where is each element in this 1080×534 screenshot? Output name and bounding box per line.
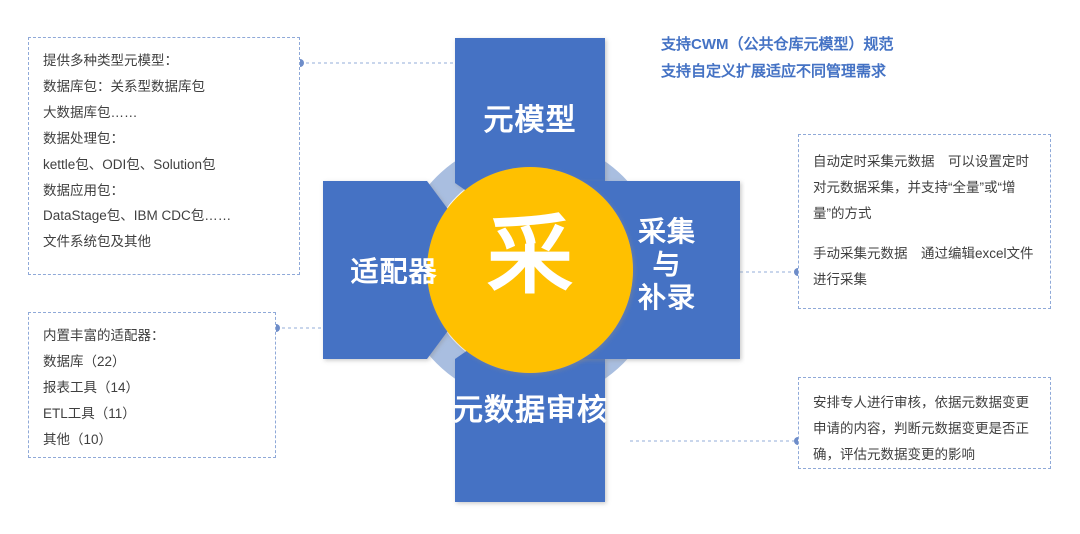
note-spacer [813,227,1036,241]
core-circle [427,167,633,373]
note-line: ETL工具（11） [43,401,261,427]
headline-line-2: 支持自定义扩展适应不同管理需求 [661,59,1061,86]
note-line: 内置丰富的适配器： [43,323,261,349]
note-audit: 安排专人进行审核，依据元数据变更申请的内容，判断元数据变更是否正确，评估元数据变… [798,377,1051,469]
note-line: 自动定时采集元数据 可以设置定时对元数据采集，并支持“全量”或“增量”的方式 [813,149,1036,227]
note-line: kettle包、ODI包、Solution包 [43,152,285,178]
note-line: 手动采集元数据 通过编辑excel文件进行采集 [813,241,1036,293]
note-line: 提供多种类型元模型： [43,48,285,74]
note-line: 数据库包：关系型数据库包 [43,74,285,100]
note-collect: 自动定时采集元数据 可以设置定时对元数据采集，并支持“全量”或“增量”的方式 手… [798,134,1051,309]
slide-canvas: 采 元模型 适配器 采集 与 补录 元数据审核 支持CWM（公共仓库元模型）规范… [0,0,1080,534]
note-line: 报表工具（14） [43,375,261,401]
note-line: 数据库（22） [43,349,261,375]
note-line: 其他（10） [43,427,261,453]
note-line: 安排专人进行审核，依据元数据变更申请的内容，判断元数据变更是否正确，评估元数据变… [813,390,1036,468]
petal-diagram: 采 元模型 适配器 采集 与 补录 元数据审核 [315,25,745,515]
note-line: 文件系统包及其他 [43,229,285,255]
headline-block: 支持CWM（公共仓库元模型）规范 支持自定义扩展适应不同管理需求 [661,32,1061,85]
note-line: 数据处理包： [43,126,285,152]
note-line: 数据应用包： [43,178,285,204]
note-line: DataStage包、IBM CDC包…… [43,203,285,229]
note-metamodel: 提供多种类型元模型： 数据库包：关系型数据库包 大数据库包…… 数据处理包： k… [28,37,300,275]
headline-line-1: 支持CWM（公共仓库元模型）规范 [661,32,1061,59]
note-adapter: 内置丰富的适配器： 数据库（22） 报表工具（14） ETL工具（11） 其他（… [28,312,276,458]
note-line: 大数据库包…… [43,100,285,126]
